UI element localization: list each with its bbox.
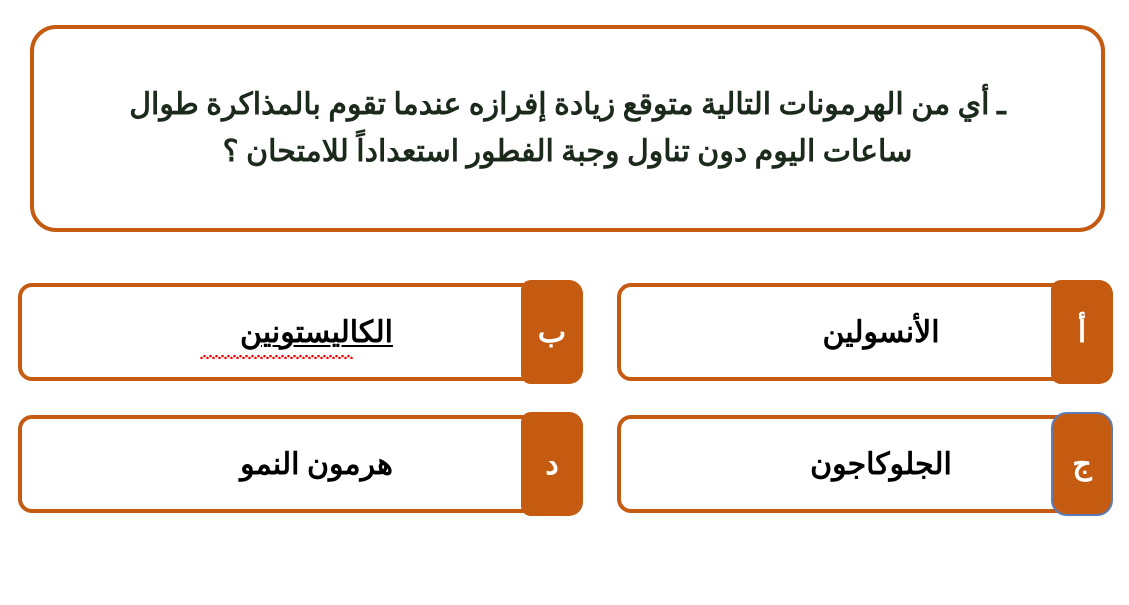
option-d-letter-badge[interactable]: د bbox=[521, 412, 583, 516]
option-b-body[interactable]: الكاليستونين bbox=[18, 283, 575, 381]
option-b-letter-badge[interactable]: ب bbox=[521, 280, 583, 384]
quiz-slide: ـ أي من الهرمونات التالية متوقع زيادة إف… bbox=[0, 0, 1129, 605]
option-c-letter-badge[interactable]: ج bbox=[1051, 412, 1113, 516]
option-c-body[interactable]: الجلوكاجون bbox=[617, 415, 1105, 513]
option-b-text: الكاليستونين bbox=[200, 315, 393, 350]
option-d-letter: د bbox=[545, 447, 558, 482]
option-c-text: الجلوكاجون bbox=[770, 447, 952, 482]
option-d-body[interactable]: هرمون النمو bbox=[18, 415, 575, 513]
option-a-body[interactable]: الأنسولين bbox=[617, 283, 1105, 381]
option-a-letter-badge[interactable]: أ bbox=[1051, 280, 1113, 384]
question-box: ـ أي من الهرمونات التالية متوقع زيادة إف… bbox=[30, 25, 1105, 232]
option-a-letter: أ bbox=[1078, 315, 1086, 350]
option-b-letter: ب bbox=[538, 315, 566, 350]
option-a[interactable]: الأنسولين أ bbox=[617, 283, 1105, 381]
question-text: ـ أي من الهرمونات التالية متوقع زيادة إف… bbox=[34, 82, 1101, 175]
option-c[interactable]: الجلوكاجون ج bbox=[617, 415, 1105, 513]
option-c-letter: ج bbox=[1072, 447, 1091, 482]
option-d[interactable]: هرمون النمو د bbox=[18, 415, 575, 513]
option-a-text: الأنسولين bbox=[782, 315, 939, 350]
option-d-text: هرمون النمو bbox=[200, 447, 393, 482]
option-b[interactable]: الكاليستونين ب bbox=[18, 283, 575, 381]
